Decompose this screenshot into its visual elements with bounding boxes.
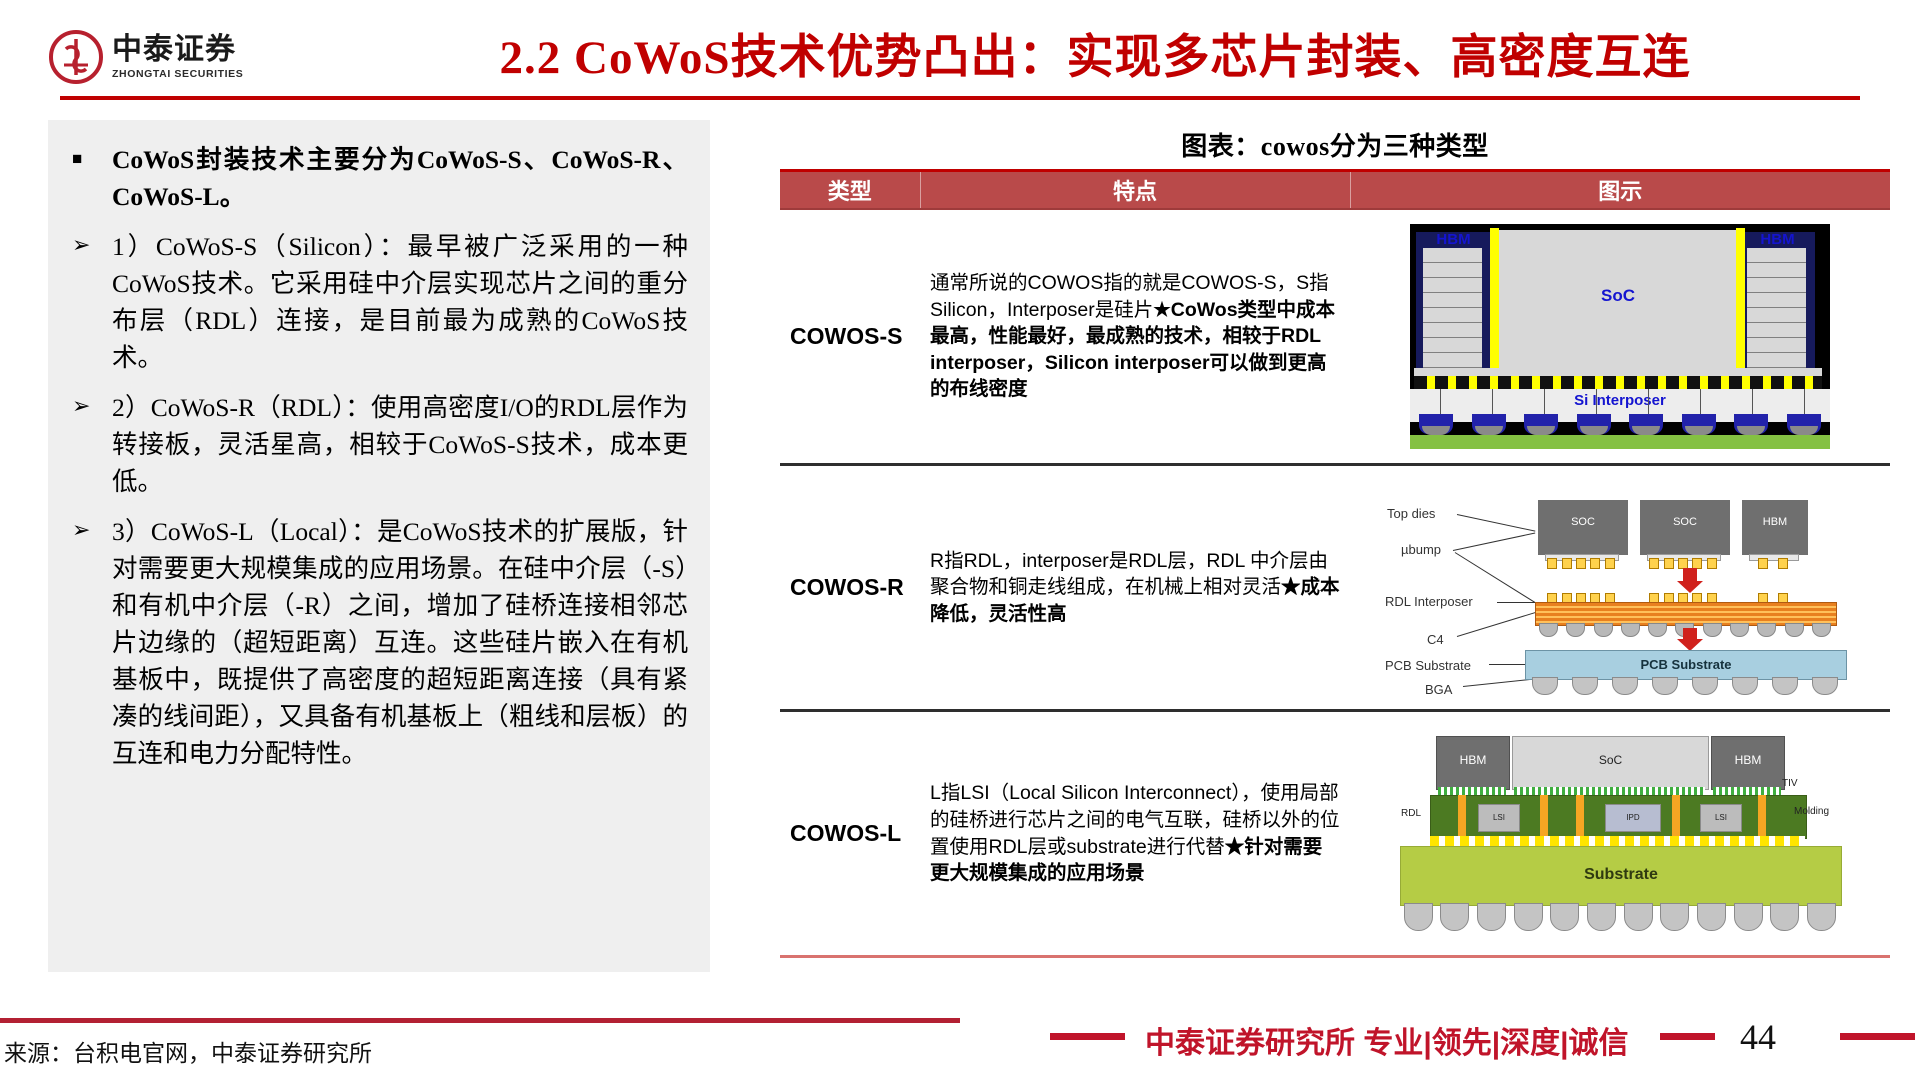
c4-solder-balls: [1410, 414, 1830, 436]
cowos-types-table: 类型 特点 图示 COWOS-S 通常所说的COWOS指的就是COWOS-S，S…: [780, 169, 1890, 958]
bga-ball: [1652, 677, 1678, 695]
desc-plain: R指RDL，interposer是RDL层，RDL 中介层由聚合物和铜走线组成，…: [930, 550, 1328, 599]
ubump: [1664, 558, 1674, 569]
substrate-label: Substrate: [1401, 866, 1841, 884]
molding-label: Molding: [1794, 806, 1829, 817]
company-logo: 中泰证券 ZHONGTAI SECURITIES: [48, 26, 263, 88]
solder-ball: [1787, 414, 1821, 434]
bullet-text: 1）CoWoS-S（Silicon）：最早被广泛采用的一种CoWoS技术。它采用…: [112, 229, 688, 377]
bga-ball-row: [1400, 903, 1840, 929]
list-item: ➢ 1）CoWoS-S（Silicon）：最早被广泛采用的一种CoWoS技术。它…: [66, 229, 688, 377]
soc-die-2-label: SOC: [1640, 516, 1730, 528]
c4-line: [1440, 389, 1441, 415]
c4-bump: [1730, 623, 1749, 637]
footer-brand: 中泰证券研究所 专业|领先|深度|诚信: [1145, 1018, 1629, 1062]
cell-type: COWOS-R: [780, 465, 920, 711]
slide-header: 中泰证券 ZHONGTAI SECURITIES 2.2 CoWoS技术优势凸出…: [0, 0, 1920, 104]
c4-line: [1752, 389, 1753, 415]
hbm-die: HBM: [1742, 500, 1808, 555]
solder-ball: [1472, 414, 1506, 434]
solder-ball: [1734, 414, 1768, 434]
header-divider: [60, 96, 1860, 100]
microbump-row: [1438, 787, 1506, 795]
c4-bump: [1757, 623, 1776, 637]
hbm-left-label: HBM: [1437, 753, 1509, 767]
bga-ball-row: [1525, 677, 1845, 693]
si-interposer-label: Si Interposer: [1410, 392, 1830, 409]
leader-line: [1401, 721, 1414, 730]
down-arrow-icon: [1683, 568, 1697, 582]
list-item: ■ CoWoS封装技术主要分为CoWoS-S、CoWoS-R、CoWoS-L。: [66, 142, 688, 216]
tiv-pillar: [1758, 795, 1766, 837]
rdl-label: RDL: [1401, 808, 1421, 819]
left-text-panel: ■ CoWoS封装技术主要分为CoWoS-S、CoWoS-R、CoWoS-L。 …: [48, 120, 710, 972]
c4-bump: [1621, 623, 1640, 637]
solder-ball: [1682, 414, 1716, 434]
ubump: [1605, 558, 1615, 569]
list-item: ➢ 3）CoWoS-L（Local）：是CoWoS技术的扩展版，针对需要更大规模…: [66, 514, 688, 773]
hbm-left-die: HBM: [1436, 736, 1510, 790]
cell-type: COWOS-L: [780, 711, 920, 957]
c4-bump: [1539, 623, 1558, 637]
lsi-bridge-right: LSI: [1700, 804, 1742, 832]
logo-english-name: ZHONGTAI SECURITIES: [112, 69, 243, 80]
cowos-r-stack-diagram: Top dies µbump RDL Interposer C4 PCB Sub…: [1385, 480, 1855, 695]
figure-caption: 图表：cowos分为三种类型: [780, 120, 1890, 163]
rdl-interposer-label: RDL Interposer: [1385, 594, 1473, 609]
soc-label: SoC: [1513, 753, 1708, 767]
list-item: ➢ 2）CoWoS-R（RDL）：使用高密度I/O的RDL层作为转接板，灵活星高…: [66, 390, 688, 501]
leader-line: [1400, 723, 1417, 729]
lsi-right-label: LSI: [1701, 813, 1741, 822]
leader-line: [1400, 723, 1417, 729]
bga-label: BGA: [1425, 682, 1452, 697]
c4-line: [1700, 389, 1701, 415]
table-header-row: 类型 特点 图示: [780, 171, 1890, 210]
tiv-pillar: [1672, 795, 1680, 837]
c4-bump: [1566, 623, 1585, 637]
bullet-arrow-icon: ➢: [66, 514, 112, 545]
bga-ball: [1477, 903, 1506, 931]
bullet-text: 3）CoWoS-L（Local）：是CoWoS技术的扩展版，针对需要更大规模集成…: [112, 514, 688, 773]
page-title: 2.2 CoWoS技术优势凸出：实现多芯片封装、高密度互连: [300, 18, 1890, 87]
bullet-arrow-icon: ➢: [66, 390, 112, 421]
cowos-s-cross-section-diagram: HBM SoC HBM Si Interposer: [1410, 224, 1830, 449]
bga-ball: [1587, 903, 1616, 931]
c4-label: C4: [1427, 632, 1444, 647]
column-header-type: 类型: [780, 171, 920, 210]
bga-ball: [1772, 677, 1798, 695]
soc-die-1: SOC: [1538, 500, 1628, 555]
solder-ball: [1419, 414, 1453, 434]
bga-ball: [1807, 903, 1836, 931]
bga-ball: [1440, 903, 1469, 931]
leader-line: [1457, 514, 1535, 532]
table-row: COWOS-S 通常所说的COWOS指的就是COWOS-S，S指Silicon，…: [780, 209, 1890, 465]
cell-diagram: Top dies µbump RDL Interposer C4 PCB Sub…: [1350, 465, 1890, 711]
tiv-pillar: [1540, 795, 1548, 837]
cell-type: COWOS-S: [780, 209, 920, 465]
bga-ball: [1624, 903, 1653, 931]
c4-line: [1544, 389, 1545, 415]
lsi-left-label: LSI: [1479, 813, 1519, 822]
ipd-block: IPD: [1605, 804, 1661, 832]
bga-ball: [1770, 903, 1799, 931]
ubump: [1590, 558, 1600, 569]
soc-label: SoC: [1498, 286, 1738, 306]
c4-bump: [1703, 623, 1722, 637]
substrate-block: Substrate: [1400, 846, 1842, 906]
desc-star-icon: ★: [1281, 576, 1301, 598]
ubump: [1547, 558, 1557, 569]
footer-divider: [0, 1018, 960, 1023]
cell-diagram: HBM SoC HBM LSI IPD LSI: [1350, 711, 1890, 957]
c4-bump: [1812, 623, 1831, 637]
interposer-ubump-row: [1647, 593, 1719, 602]
ubump: [1778, 558, 1788, 569]
interposer-ubump-row: [1753, 593, 1793, 602]
leader-line: [1489, 664, 1527, 665]
tiv-pillar: [1576, 795, 1584, 837]
microbump-row: [1514, 787, 1705, 795]
footer-dash-left: [1050, 1033, 1125, 1040]
cell-description: 通常所说的COWOS指的就是COWOS-S，S指Silicon，Interpos…: [920, 209, 1350, 465]
microbump-row: [1713, 787, 1781, 795]
leader-line: [1453, 533, 1535, 551]
bullet-text: CoWoS封装技术主要分为CoWoS-S、CoWoS-R、CoWoS-L。: [112, 142, 688, 216]
c4-line: [1596, 389, 1597, 415]
source-note: 来源：台积电官网，中泰证券研究所: [4, 1034, 372, 1068]
hbm-right-die: HBM: [1711, 736, 1785, 790]
c4-line: [1804, 389, 1805, 415]
bullet-arrow-icon: ➢: [66, 229, 112, 260]
column-header-diagram: 图示: [1350, 171, 1890, 210]
bga-ball: [1732, 677, 1758, 695]
c4-bump: [1594, 623, 1613, 637]
bga-ball: [1660, 903, 1689, 931]
desc-star-icon: ★: [1225, 836, 1245, 858]
table-row: COWOS-R R指RDL，interposer是RDL层，RDL 中介层由聚合…: [780, 465, 1890, 711]
soc-die-2: SOC: [1640, 500, 1730, 555]
bga-ball: [1550, 903, 1579, 931]
ubump-row: [1545, 558, 1617, 567]
c4-bump: [1785, 623, 1804, 637]
substrate-block: [1410, 435, 1830, 449]
soc-die: SoC: [1512, 736, 1709, 790]
ubump-row: [1753, 558, 1793, 567]
bga-ball: [1697, 903, 1726, 931]
interposer-ubump-row: [1545, 593, 1617, 602]
bga-ball: [1514, 903, 1543, 931]
hbm-left-stack: [1423, 248, 1482, 378]
pcb-substrate-text: PCB Substrate: [1526, 657, 1846, 672]
lsi-bridge-left: LSI: [1478, 804, 1520, 832]
hbm-die-label: HBM: [1742, 516, 1808, 528]
right-figure-panel: 图表：cowos分为三种类型 类型 特点 图示 COWOS-S 通常所说的COW…: [780, 120, 1890, 980]
logo-chinese-name: 中泰证券: [112, 35, 243, 65]
solder-ball: [1577, 414, 1611, 434]
solder-ball: [1629, 414, 1663, 434]
footer-dash-right: [1840, 1033, 1915, 1040]
soc-die-1-label: SOC: [1538, 516, 1628, 528]
c4-line: [1492, 389, 1493, 415]
bullet-square-icon: ■: [66, 142, 112, 171]
c4-bump-row: [1430, 836, 1805, 846]
bga-ball: [1692, 677, 1718, 695]
bga-ball: [1812, 677, 1838, 695]
page-number: 44: [1740, 1016, 1776, 1058]
pcb-substrate-label: PCB Substrate: [1385, 658, 1471, 673]
ubump: [1576, 558, 1586, 569]
ubump: [1758, 558, 1768, 569]
ubump-row: [1647, 558, 1719, 567]
tiv-pillar: [1458, 795, 1466, 837]
column-header-features: 特点: [920, 171, 1350, 210]
solder-ball: [1524, 414, 1558, 434]
bga-ball: [1532, 677, 1558, 695]
ubump-label: µbump: [1401, 542, 1441, 557]
down-arrow-icon: [1677, 581, 1703, 593]
cell-diagram: HBM SoC HBM Si Interposer: [1350, 209, 1890, 465]
ubump: [1707, 558, 1717, 569]
bga-ball: [1734, 903, 1763, 931]
tiv-label: TIV: [1782, 778, 1798, 789]
cell-description: L指LSI（Local Silicon Interconnect），使用局部的硅…: [920, 711, 1350, 957]
desc-star-icon: ★: [1153, 299, 1170, 321]
bullet-list: ■ CoWoS封装技术主要分为CoWoS-S、CoWoS-R、CoWoS-L。 …: [48, 120, 710, 773]
c4-bump: [1648, 623, 1667, 637]
table-row: COWOS-L L指LSI（Local Silicon Interconnect…: [780, 711, 1890, 957]
bullet-text: 2）CoWoS-R（RDL）：使用高密度I/O的RDL层作为转接板，灵活星高，相…: [112, 390, 688, 501]
footer-dash-mid: [1660, 1033, 1715, 1040]
ubump: [1562, 558, 1572, 569]
bga-ball: [1572, 677, 1598, 695]
cowos-l-cross-section-diagram: HBM SoC HBM LSI IPD LSI: [1400, 726, 1840, 941]
bga-ball: [1612, 677, 1638, 695]
ubump: [1649, 558, 1659, 569]
ipd-label: IPD: [1606, 813, 1660, 822]
hbm-left-label: HBM: [1416, 231, 1491, 248]
hbm-right-label: HBM: [1740, 231, 1815, 248]
hbm-right-label: HBM: [1712, 753, 1784, 767]
bullet-text-bold: CoWoS封装技术主要分为CoWoS-S、CoWoS-R、CoWoS-L。: [112, 145, 688, 211]
pcb-substrate-block: PCB Substrate: [1525, 650, 1847, 680]
hbm-right-stack: [1747, 248, 1806, 378]
top-dies-label: Top dies: [1387, 506, 1435, 521]
bga-ball: [1404, 903, 1433, 931]
cell-description: R指RDL，interposer是RDL层，RDL 中介层由聚合物和铜走线组成，…: [920, 465, 1350, 711]
microbump-row: [1414, 376, 1822, 389]
zhongtai-circle-logo-icon: [48, 29, 104, 85]
c4-line: [1648, 389, 1649, 415]
